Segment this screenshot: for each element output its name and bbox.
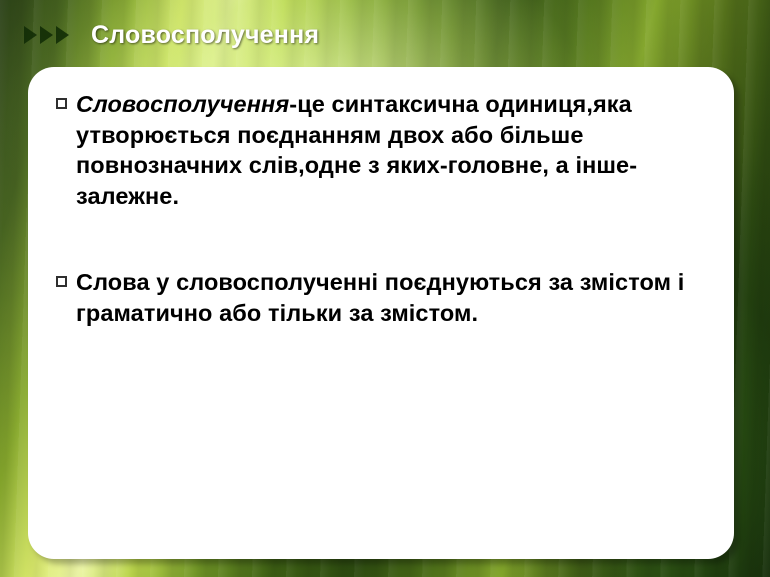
bullet-emphasis: Словосполучення xyxy=(76,91,289,117)
title-triangle-markers xyxy=(24,26,69,44)
bullet-text: Слова у словосполученні поєднуються за з… xyxy=(76,267,704,328)
bullet-square-icon xyxy=(56,98,67,109)
list-item: Слова у словосполученні поєднуються за з… xyxy=(56,267,704,328)
bullet-text: Словосполучення-це синтаксична одиниця,я… xyxy=(76,89,704,211)
presentation-slide: Словосполучення Словосполучення-це синта… xyxy=(0,0,770,577)
triangle-right-icon xyxy=(24,26,37,44)
page-title: Словосполучення xyxy=(91,21,319,50)
triangle-right-icon xyxy=(56,26,69,44)
bullet-square-icon xyxy=(56,276,67,287)
bullet-spacer xyxy=(56,237,704,267)
bullet-body: Слова у словосполученні поєднуються за з… xyxy=(76,269,684,326)
content-card: Словосполучення-це синтаксична одиниця,я… xyxy=(28,67,734,559)
slide-title-row: Словосполучення xyxy=(0,14,770,56)
triangle-right-icon xyxy=(40,26,53,44)
content-card-body: Словосполучення-це синтаксична одиниця,я… xyxy=(28,67,734,328)
list-item: Словосполучення-це синтаксична одиниця,я… xyxy=(56,89,704,211)
